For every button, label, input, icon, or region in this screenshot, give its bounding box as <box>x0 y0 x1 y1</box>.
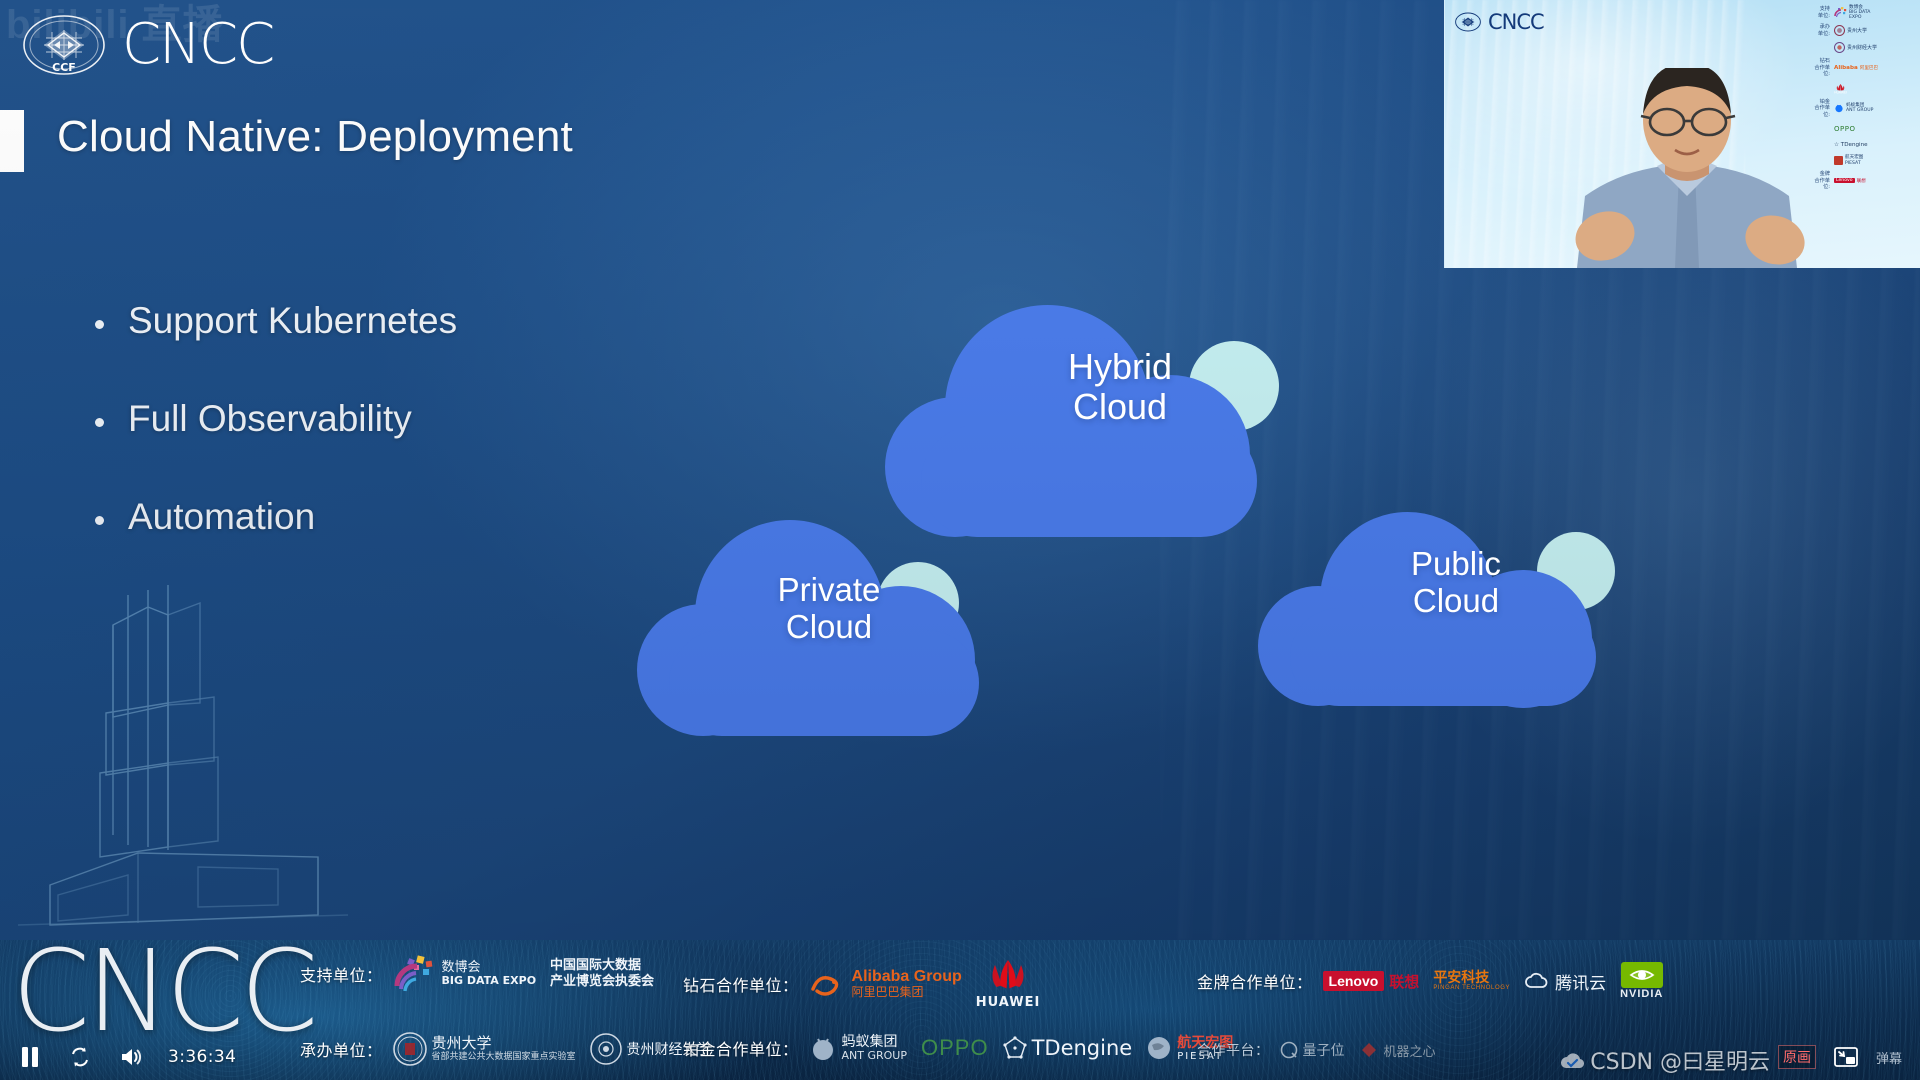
title-accent-bar <box>0 110 24 172</box>
ccf-seal-icon: CCF <box>22 14 106 76</box>
sponsor-logo-sublabel: BIG DATA EXPO <box>442 975 537 987</box>
webcam-sponsor-label: 铂金合作单位: <box>1808 99 1830 119</box>
svg-text:CCF: CCF <box>52 61 76 74</box>
tencent-cloud-logo: 腾讯云 <box>1524 969 1606 994</box>
cloud-label-line1: Hybrid <box>995 347 1245 387</box>
list-item: 承办单位: 贵州大学 <box>1808 24 1916 37</box>
speaker-webcam-overlay[interactable]: CNCC 支持单位: 数博会BIG DATAEXPO <box>1444 0 1920 268</box>
webcam-sponsor-logo: OPPO <box>1834 123 1855 134</box>
sponsor-group-title: 金牌合作单位： <box>1197 969 1313 993</box>
cloud-label-line1: Public <box>1336 546 1576 583</box>
nvidia-eye-icon <box>1621 962 1663 988</box>
picture-in-picture-button[interactable] <box>1834 1045 1858 1069</box>
list-item: Support Kubernetes <box>95 300 715 342</box>
sponsor-logo-sublabel: 联想 <box>1389 971 1419 992</box>
playback-timestamp: 3:36:34 <box>168 1047 236 1067</box>
bullet-label: Automation <box>128 496 315 538</box>
list-item: HUAWEI <box>1808 83 1916 94</box>
list-item: OPPO <box>1808 123 1916 134</box>
player-controls-right: 原画 弹幕 <box>1778 1045 1920 1069</box>
sponsor-logo-label: 数博会 <box>442 961 537 976</box>
list-item: Full Observability <box>95 398 715 440</box>
sponsor-logo-sublabel: 产业博览会执委会 <box>550 974 654 990</box>
sponsor-logo-label: 中国国际大数据 <box>550 958 654 974</box>
list-item: Automation <box>95 496 715 538</box>
sponsor-bar-cncc-wordmark: CNCC <box>12 940 314 1048</box>
bullet-label: Full Observability <box>128 398 412 440</box>
alibaba-icon <box>809 971 847 997</box>
sponsor-logo-label: 腾讯云 <box>1555 969 1606 994</box>
cloud-label-line2: Cloud <box>1336 583 1576 620</box>
cloud-label-line2: Cloud <box>995 387 1245 427</box>
cloud-label: Hybrid Cloud <box>995 347 1245 428</box>
private-cloud-graphic: Private Cloud <box>637 520 1017 770</box>
bigdata-expo-icon <box>393 954 437 994</box>
list-item: 铂金合作单位: 蚂蚁集团ANT GROUP <box>1808 99 1916 119</box>
page-title: Cloud Native: Deployment <box>57 112 573 162</box>
sponsor-group-supporting: 支持单位： <box>300 954 654 994</box>
cloud-label-line2: Cloud <box>709 609 949 646</box>
bullet-dot-icon <box>95 418 104 427</box>
cloud-label: Private Cloud <box>709 572 949 646</box>
sponsor-logo-sublabel: 阿里巴巴集团 <box>852 986 962 1000</box>
webcam-sponsor-label: 支持单位: <box>1808 6 1830 19</box>
svg-text:HUAWEI: HUAWEI <box>1834 90 1847 93</box>
webcam-sponsor-strip: 支持单位: 数博会BIG DATAEXPO 承办单位: <box>1808 6 1916 191</box>
huawei-icon <box>982 958 1034 994</box>
public-cloud-graphic: Public Cloud <box>1258 512 1633 722</box>
player-controls: 3:36:34 原画 弹幕 <box>0 1034 1920 1080</box>
alibaba-logo: Alibaba Group 阿里巴巴集团 <box>809 968 962 1000</box>
webcam-sponsor-logo: 数博会BIG DATAEXPO <box>1834 7 1870 18</box>
cncc-header-logo: CCF CNCC <box>22 14 273 76</box>
list-item: 金牌合作单位: Lenovo 联想 <box>1808 171 1916 191</box>
bullet-dot-icon <box>95 516 104 525</box>
webcam-sponsor-label: 金牌合作单位: <box>1808 171 1830 191</box>
sponsor-logo-list: Alibaba Group 阿里巴巴集团 HUAWEI <box>809 958 1041 1010</box>
bigdata-expo-logo: 数博会 BIG DATA EXPO <box>393 954 537 994</box>
quality-selector[interactable]: 原画 <box>1778 1045 1816 1069</box>
webcam-sponsor-logo: Alibaba 阿里巴巴 <box>1834 62 1878 73</box>
sponsor-logo-label: NVIDIA <box>1620 988 1663 1000</box>
pause-button[interactable] <box>18 1045 42 1069</box>
sponsor-logo-sublabel: HUAWEI <box>976 995 1041 1010</box>
bullet-dot-icon <box>95 320 104 329</box>
danmaku-toggle[interactable]: 弹幕 <box>1876 1048 1902 1067</box>
bullet-label: Support Kubernetes <box>128 300 457 342</box>
volume-button[interactable] <box>118 1045 142 1069</box>
cloud-label: Public Cloud <box>1336 546 1576 620</box>
webcam-sponsor-logo: Lenovo 联想 <box>1834 175 1866 186</box>
webcam-sponsor-label: 承办单位: <box>1808 24 1830 37</box>
webcam-sponsor-logo: 贵州大学 <box>1834 25 1867 36</box>
webcam-sponsor-logo: HUAWEI <box>1834 83 1847 94</box>
nvidia-logo: NVIDIA <box>1620 962 1663 1000</box>
webcam-sponsor-logo: ☆ TDengine <box>1834 139 1868 150</box>
webcam-sponsor-logo: 航天宏图PIESAT <box>1834 155 1863 166</box>
list-item: ☆ TDengine <box>1808 139 1916 150</box>
tencent-cloud-icon <box>1524 971 1550 991</box>
sponsor-logo-sublabel: PINGAN TECHNOLOGY <box>1433 985 1510 992</box>
player-controls-left: 3:36:34 <box>0 1045 236 1069</box>
webcam-sponsor-logo: 贵州财经大学 <box>1834 42 1877 53</box>
cncc-wordmark: CNCC <box>122 17 273 73</box>
ccf-seal-icon <box>1455 12 1481 32</box>
sponsor-logo-label: Lenovo <box>1323 971 1385 991</box>
list-item: 贵州财经大学 <box>1808 42 1916 53</box>
bullet-list: Support Kubernetes Full Observability Au… <box>95 300 715 594</box>
lenovo-logo: Lenovo 联想 <box>1323 971 1420 992</box>
webcam-cncc-wordmark: CNCC <box>1488 10 1544 34</box>
list-item: 支持单位: 数博会BIG DATAEXPO <box>1808 6 1916 19</box>
sponsor-group-title: 钻石合作单位： <box>683 972 799 996</box>
webcam-sponsor-logo: 蚂蚁集团ANT GROUP <box>1834 103 1873 114</box>
bigdata-expo-text: 中国国际大数据 产业博览会执委会 <box>550 958 654 989</box>
sponsor-logo-list: 数博会 BIG DATA EXPO 中国国际大数据 产业博览会执委会 <box>393 954 655 994</box>
webcam-sponsor-label: 钻石合作单位: <box>1808 58 1830 78</box>
huawei-logo: HUAWEI <box>976 958 1041 1010</box>
sponsor-logo-label: Alibaba Group <box>852 968 962 986</box>
list-item: 航天宏图PIESAT <box>1808 155 1916 166</box>
list-item: 钻石合作单位: Alibaba 阿里巴巴 <box>1808 58 1916 78</box>
sponsor-logo-label: 平安科技 <box>1433 970 1510 985</box>
cloud-label-line1: Private <box>709 572 949 609</box>
sponsor-logo-list: Lenovo 联想 平安科技 PINGAN TECHNOLOGY 腾讯云 <box>1323 962 1664 1000</box>
video-player-stage: bilibili 直播 CCF <box>0 0 1920 1080</box>
loop-button[interactable] <box>68 1045 92 1069</box>
sponsor-group-diamond: 钻石合作单位： Alibaba Group 阿里巴巴集团 <box>683 958 1040 1010</box>
webcam-cncc-logo: CNCC <box>1455 10 1544 34</box>
pingan-technology-logo: 平安科技 PINGAN TECHNOLOGY <box>1433 970 1510 992</box>
sponsor-group-title: 支持单位： <box>300 962 383 986</box>
sponsor-group-gold: 金牌合作单位： Lenovo 联想 平安科技 PINGAN TECHNOLOGY <box>1197 962 1663 1000</box>
wireframe-building-graphic <box>18 585 348 940</box>
